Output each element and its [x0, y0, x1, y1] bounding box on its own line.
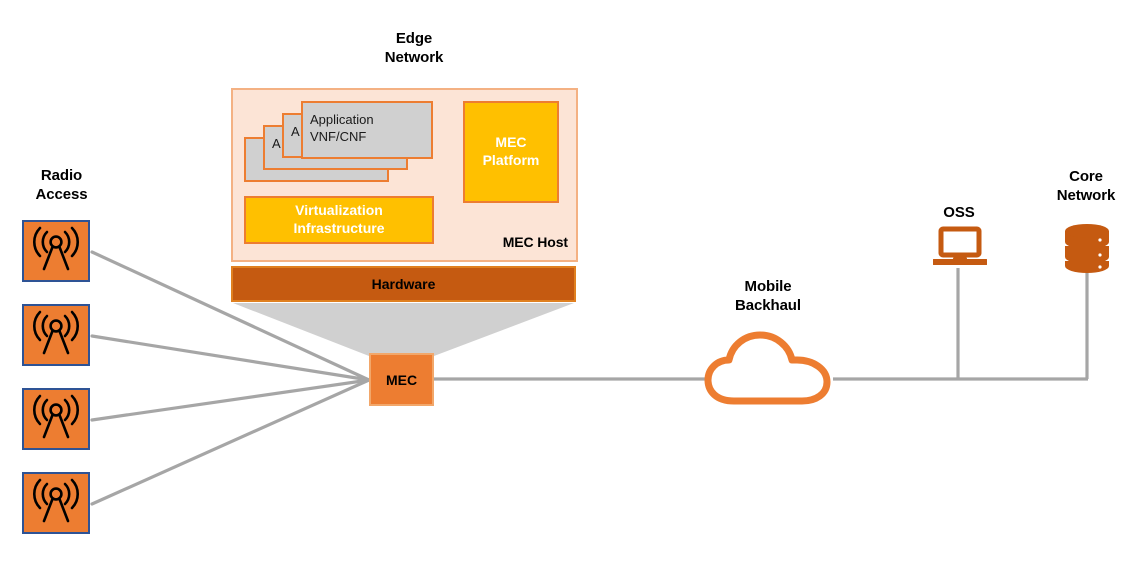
link-tower2-mec: [92, 336, 369, 380]
diagram-canvas: Edge Network A A Application VNF/CNF Vir…: [0, 0, 1143, 569]
funnel-shape: [233, 303, 574, 356]
connector-layer: [0, 0, 1143, 569]
